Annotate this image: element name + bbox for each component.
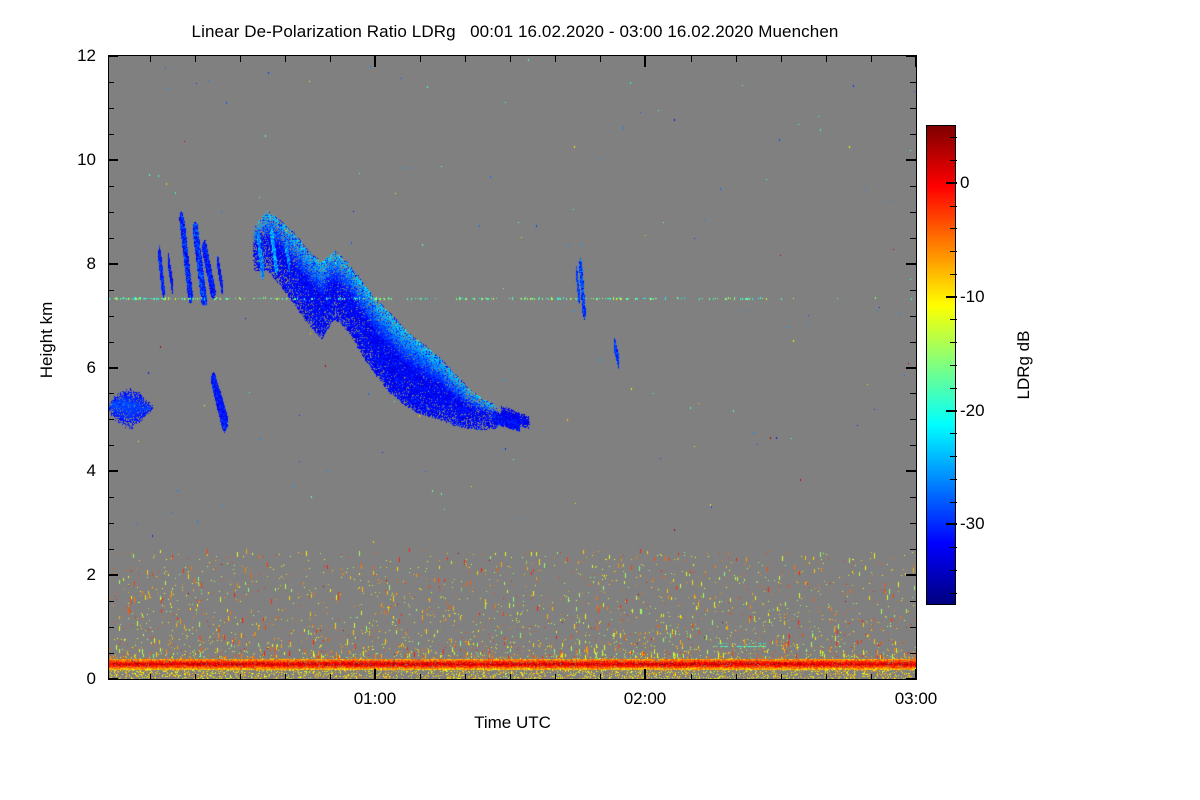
plot-area (108, 55, 917, 680)
y-tick-minor-right (910, 238, 916, 239)
x-tick-minor (195, 674, 196, 680)
x-tick-minor-top (871, 56, 872, 62)
colorbar-tick-major (946, 410, 957, 412)
colorbar-tick-minor (950, 456, 957, 457)
x-tick-major (915, 669, 917, 680)
y-tick-minor-right (910, 342, 916, 343)
x-axis-title: Time UTC (108, 713, 917, 733)
x-tick-minor (691, 674, 692, 680)
colorbar-tick-label: 0 (960, 174, 969, 191)
y-tick-minor (108, 549, 114, 550)
y-tick-minor (108, 212, 114, 213)
y-tick-major (108, 470, 118, 472)
x-tick-minor-top (600, 56, 601, 62)
y-tick-minor-right (910, 134, 916, 135)
y-tick-minor (108, 497, 114, 498)
y-tick-minor (108, 82, 114, 83)
colorbar-tick-major (946, 296, 957, 298)
y-tick-minor-right (910, 549, 916, 550)
y-tick-minor (108, 290, 114, 291)
y-tick-minor (108, 393, 114, 394)
x-tick-minor (150, 674, 151, 680)
x-tick-minor-top (240, 56, 241, 62)
y-tick-minor-right (910, 653, 916, 654)
x-tick-minor-top (420, 56, 421, 62)
y-tick-minor-right (910, 316, 916, 317)
colorbar-tick-minor (950, 479, 957, 480)
x-tick-major-top (374, 56, 376, 67)
colorbar-tick-minor (950, 502, 957, 503)
x-tick-minor (826, 674, 827, 680)
y-axis-tick-label: 12 (36, 47, 96, 64)
y-tick-minor-right (910, 186, 916, 187)
colorbar-tick-label: -30 (960, 515, 985, 532)
x-tick-minor (600, 674, 601, 680)
y-tick-major (108, 678, 118, 680)
y-tick-minor-right (910, 419, 916, 420)
x-tick-minor (465, 674, 466, 680)
y-tick-major-right (906, 470, 916, 472)
colorbar-tick-minor (950, 319, 957, 320)
y-tick-major (108, 263, 118, 265)
x-tick-minor-top (285, 56, 286, 62)
ldr-heatmap-canvas (109, 56, 916, 679)
colorbar-tick-major (946, 182, 957, 184)
x-tick-minor-top (826, 56, 827, 62)
colorbar-tick-minor (950, 570, 957, 571)
y-tick-minor-right (910, 108, 916, 109)
y-tick-minor (108, 627, 114, 628)
x-tick-major (644, 669, 646, 680)
x-tick-minor-top (150, 56, 151, 62)
x-tick-major-top (915, 56, 917, 67)
colorbar-tick-minor (950, 342, 957, 343)
colorbar-tick-minor (950, 547, 957, 548)
y-tick-minor (108, 186, 114, 187)
x-tick-minor-top (555, 56, 556, 62)
x-tick-minor-top (510, 56, 511, 62)
y-tick-minor-right (910, 523, 916, 524)
colorbar-tick-minor (950, 274, 957, 275)
y-tick-major-right (906, 159, 916, 161)
x-axis-tick-label: 03:00 (861, 690, 971, 707)
y-tick-major (108, 367, 118, 369)
colorbar-tick-minor (950, 593, 957, 594)
colorbar-tick-minor (950, 137, 957, 138)
colorbar-tick-minor (950, 160, 957, 161)
y-tick-minor-right (910, 627, 916, 628)
y-tick-minor-right (910, 290, 916, 291)
y-tick-minor-right (910, 445, 916, 446)
x-tick-minor-top (781, 56, 782, 62)
y-tick-minor-right (910, 82, 916, 83)
x-tick-minor (420, 674, 421, 680)
x-tick-minor (781, 674, 782, 680)
y-axis-tick-label: 4 (36, 462, 96, 479)
x-tick-minor (555, 674, 556, 680)
y-tick-minor (108, 316, 114, 317)
x-tick-minor-top (465, 56, 466, 62)
colorbar-tick-minor (950, 388, 957, 389)
y-axis-tick-label: 2 (36, 566, 96, 583)
y-tick-major-right (906, 263, 916, 265)
x-tick-minor (330, 674, 331, 680)
x-axis-tick-label: 02:00 (590, 690, 700, 707)
colorbar-tick-major (946, 523, 957, 525)
x-tick-minor (736, 674, 737, 680)
colorbar-title: LDRg dB (1014, 285, 1034, 445)
y-tick-minor-right (910, 601, 916, 602)
y-tick-minor (108, 523, 114, 524)
colorbar-tick-minor (950, 228, 957, 229)
y-tick-minor (108, 108, 114, 109)
colorbar-tick-minor (950, 251, 957, 252)
y-axis-tick-label: 0 (36, 670, 96, 687)
y-tick-major (108, 574, 118, 576)
x-tick-minor-top (195, 56, 196, 62)
y-tick-minor (108, 342, 114, 343)
colorbar-tick-minor (950, 433, 957, 434)
y-tick-minor-right (910, 497, 916, 498)
y-tick-minor (108, 653, 114, 654)
x-tick-minor-top (691, 56, 692, 62)
x-tick-minor (285, 674, 286, 680)
y-tick-minor-right (910, 212, 916, 213)
colorbar-tick-label: -20 (960, 402, 985, 419)
colorbar-tick-label: -10 (960, 288, 985, 305)
x-tick-minor-top (330, 56, 331, 62)
y-tick-minor-right (910, 393, 916, 394)
y-tick-minor (108, 445, 114, 446)
y-tick-minor (108, 601, 114, 602)
y-tick-major-right (906, 574, 916, 576)
y-tick-major (108, 55, 118, 57)
figure-root: Linear De-Polarization Ratio LDRg 00:01 … (0, 0, 1200, 800)
colorbar-tick-minor (950, 365, 957, 366)
y-axis-title: Height km (37, 260, 57, 420)
x-tick-minor (871, 674, 872, 680)
y-tick-minor (108, 134, 114, 135)
x-tick-minor (240, 674, 241, 680)
x-axis-tick-label: 01:00 (320, 690, 430, 707)
page-title: Linear De-Polarization Ratio LDRg 00:01 … (0, 22, 1030, 42)
colorbar-tick-minor (950, 206, 957, 207)
x-tick-minor (510, 674, 511, 680)
y-tick-major (108, 159, 118, 161)
x-tick-major-top (644, 56, 646, 67)
x-tick-major (374, 669, 376, 680)
y-tick-minor (108, 238, 114, 239)
y-tick-minor (108, 419, 114, 420)
y-axis-tick-label: 10 (36, 151, 96, 168)
x-tick-minor-top (736, 56, 737, 62)
y-tick-major-right (906, 367, 916, 369)
